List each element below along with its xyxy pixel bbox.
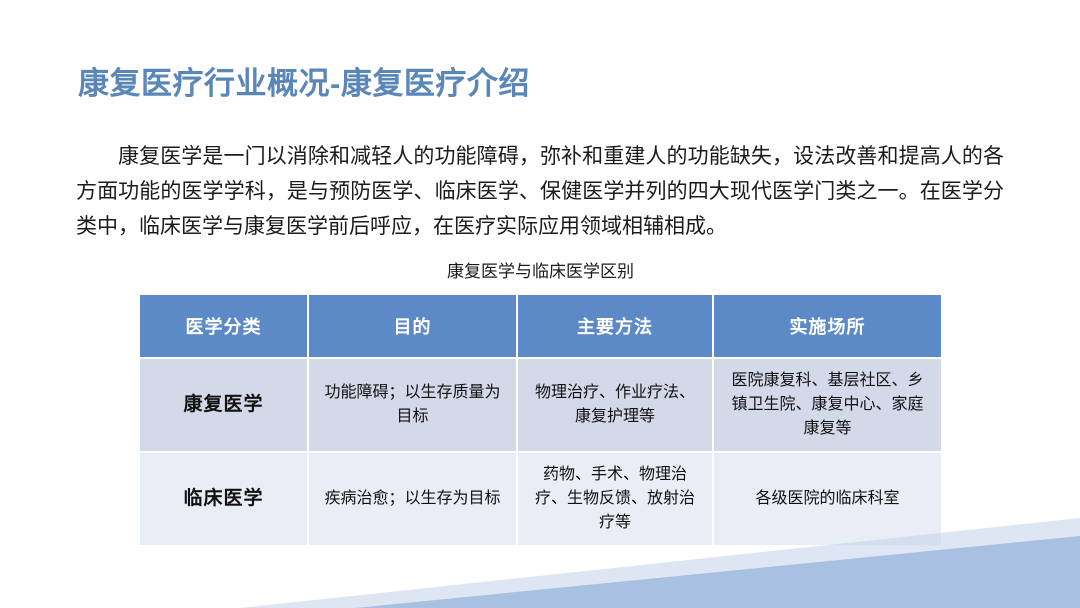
slide-canvas: 康复医疗行业概况-康复医疗介绍 康复医学是一门以消除和减轻人的功能障碍，弥补和重… [0, 0, 1080, 608]
cell-category: 康复医学 [140, 358, 308, 452]
column-header-purpose: 目的 [308, 295, 517, 358]
cell-methods: 物理治疗、作业疗法、康复护理等 [517, 358, 713, 452]
column-header-methods: 主要方法 [517, 295, 713, 358]
comparison-table-container: 医学分类 目的 主要方法 实施场所 康复医学 功能障碍；以生存质量为目标 物理治… [140, 295, 941, 547]
cell-setting: 各级医院的临床科室 [713, 452, 941, 546]
cell-purpose: 疾病治愈；以生存为目标 [308, 452, 517, 546]
comparison-table: 医学分类 目的 主要方法 实施场所 康复医学 功能障碍；以生存质量为目标 物理治… [140, 295, 941, 547]
table-row: 康复医学 功能障碍；以生存质量为目标 物理治疗、作业疗法、康复护理等 医院康复科… [140, 358, 941, 452]
table-header-row: 医学分类 目的 主要方法 实施场所 [140, 295, 941, 358]
body-paragraph: 康复医学是一门以消除和减轻人的功能障碍，弥补和重建人的功能缺失，设法改善和提高人… [76, 139, 1004, 244]
cell-purpose: 功能障碍；以生存质量为目标 [308, 358, 517, 452]
column-header-category: 医学分类 [140, 295, 308, 358]
cell-category: 临床医学 [140, 452, 308, 546]
cell-setting: 医院康复科、基层社区、乡镇卫生院、康复中心、家庭康复等 [713, 358, 941, 452]
table-caption: 康复医学与临床医学区别 [140, 260, 941, 284]
cell-methods: 药物、手术、物理治疗、生物反馈、放射治疗等 [517, 452, 713, 546]
table-row: 临床医学 疾病治愈；以生存为目标 药物、手术、物理治疗、生物反馈、放射治疗等 各… [140, 452, 941, 546]
column-header-setting: 实施场所 [713, 295, 941, 358]
page-title: 康复医疗行业概况-康复医疗介绍 [78, 65, 530, 102]
